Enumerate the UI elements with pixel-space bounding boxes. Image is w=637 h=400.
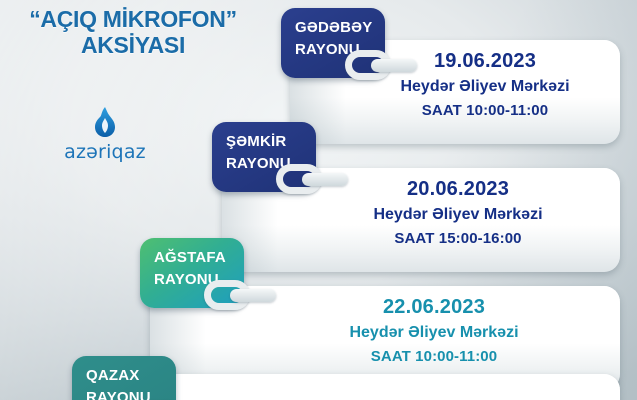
district-badge[interactable]: GƏDƏBƏY RAYONU: [281, 8, 385, 78]
event-date: 20.06.2023: [302, 176, 614, 203]
page-title: “AÇIQ MİKROFON” AKSİYASI: [8, 6, 258, 58]
event-date: 19.06.2023: [356, 48, 614, 75]
event-venue: Heydər Əliyev Mərkəzi: [302, 203, 614, 227]
event-time: SAAT 10:00-11:00: [356, 99, 614, 122]
flame-icon: [55, 105, 155, 139]
brand-logo: azəriqaz: [55, 105, 155, 163]
event-venue: Heydər Əliyev Mərkəzi: [356, 75, 614, 99]
district-suffix: RAYONU: [86, 387, 164, 400]
title-line-2: AKSİYASI: [8, 32, 258, 58]
district-name: ŞƏMKİR: [226, 131, 304, 153]
district-name: QAZAX: [86, 365, 164, 387]
district-name: GƏDƏBƏY: [295, 17, 373, 39]
event-time: SAAT 15:00-16:00: [302, 227, 614, 250]
poster-canvas: “AÇIQ MİKROFON” AKSİYASI azəriqaz 19.: [0, 0, 637, 400]
event-venue: Heydər Əliyev Mərkəzi: [254, 321, 614, 345]
district-suffix: RAYONU: [226, 153, 304, 175]
title-line-1: “AÇIQ MİKROFON”: [8, 6, 258, 32]
brand-name: azəriqaz: [55, 141, 155, 163]
district-badge[interactable]: QAZAX RAYONU: [72, 356, 176, 400]
event-time: SAAT 10:00-11:00: [254, 345, 614, 368]
event-date: 22.06.2023: [254, 294, 614, 321]
district-suffix: RAYONU: [295, 39, 373, 61]
district-badge[interactable]: AĞSTAFA RAYONU: [140, 238, 244, 308]
district-badge[interactable]: ŞƏMKİR RAYONU: [212, 122, 316, 192]
district-suffix: RAYONU: [154, 269, 232, 291]
district-name: AĞSTAFA: [154, 247, 232, 269]
